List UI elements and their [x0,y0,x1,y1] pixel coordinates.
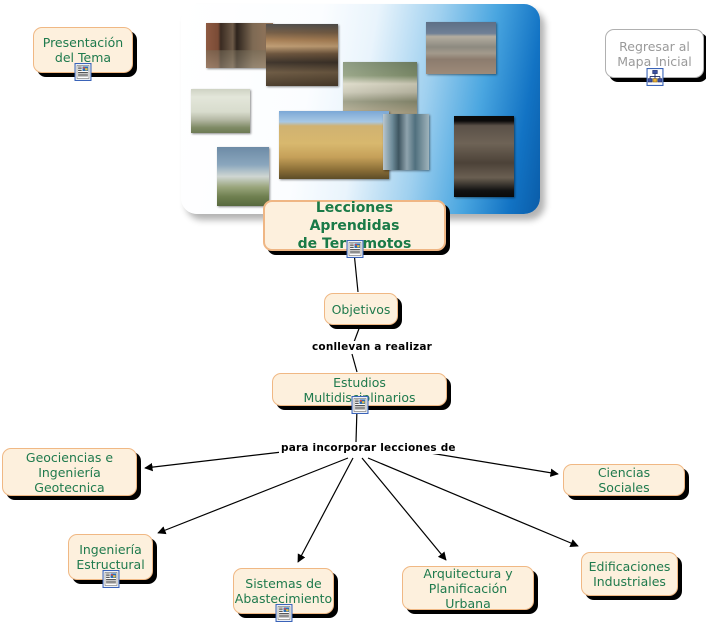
node-label: Regresar al Mapa Inicial [610,39,699,69]
document-image-icon[interactable] [275,604,292,622]
document-image-icon[interactable] [346,240,363,258]
earthquake-photo-collage [181,4,540,214]
photo-white-wooden-house [191,89,250,133]
edge-hub-arquitectura [362,458,446,560]
node-label: Edificaciones Industriales [582,559,678,589]
edge-hub-edificaciones [368,458,578,546]
node-arquitectura-y-planificacion-urbana[interactable]: Arquitectura y Planificación Urbana [402,566,534,610]
edge-hub-geociensias [145,452,282,468]
edge-principal-objetivos [354,252,358,292]
node-label: Presentación del Tema [36,35,130,65]
node-label: Ingeniería Estructural [69,542,151,572]
node-sistemas-de-abastecimiento[interactable]: Sistemas de Abastecimiento [233,568,334,614]
node-ingenieria-estructural[interactable]: Ingeniería Estructural [68,534,153,580]
photo-tilted-house-hillside [343,62,417,114]
document-image-icon[interactable] [351,396,368,414]
photo-apartment-tower [383,114,429,170]
node-regresar-al-mapa-inicial[interactable]: Regresar al Mapa Inicial [605,29,704,78]
node-label: Geociencias e Ingeniería Geotecnica [3,450,136,495]
photo-fallen-power-tower [217,147,269,206]
node-estudios-multidisciplinarios[interactable]: Estudios Multidisciplinarios [272,373,447,406]
document-image-icon[interactable] [75,63,92,81]
node-presentacion-del-tema[interactable]: Presentación del Tema [33,27,133,73]
photo-damaged-brick-house [206,23,273,68]
photo-collapsed-building [266,24,338,86]
hierarchy-icon[interactable] [646,68,663,86]
node-lecciones-aprendidas-de-terremotos[interactable]: Lecciones Aprendidas de Terremotos [263,200,446,251]
node-ciencias-sociales[interactable]: Ciencias Sociales [563,464,685,496]
edge-hub-ingenieria [158,458,348,533]
photo-hospital-building [426,22,496,74]
link-label-para-incorporar-lecciones-de: para incorporar lecciones de [279,442,458,454]
edge-objetivos-label [354,326,360,342]
node-edificaciones-industriales[interactable]: Edificaciones Industriales [581,552,678,596]
concept-map-canvas: Presentación del Tema Regresar al Ma [0,0,706,626]
edge-label-estudios [352,354,357,372]
link-label-conllevan-a-realizar: conllevan a realizar [310,341,434,353]
edge-hub-ciencias [424,452,558,474]
node-objetivos[interactable]: Objetivos [324,293,398,325]
node-label: Arquitectura y Planificación Urbana [403,566,533,611]
node-label: Ciencias Sociales [564,465,684,495]
photo-rubble-field [279,111,389,179]
edge-hub-sistemas [298,458,353,562]
node-label: Objetivos [325,302,398,317]
node-geociencias-e-ingenieria-geotecnica[interactable]: Geociencias e Ingeniería Geotecnica [2,448,137,496]
node-label: Sistemas de Abastecimiento [228,576,339,606]
photo-aerial-city-destruction [454,116,514,197]
document-image-icon[interactable] [102,570,119,588]
